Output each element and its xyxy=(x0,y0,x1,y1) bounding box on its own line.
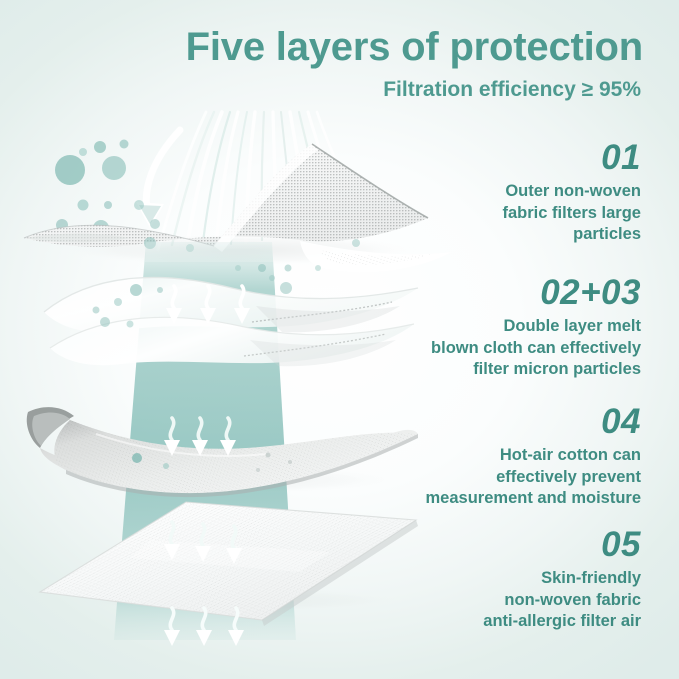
layer-description-05: Skin-friendly non-woven fabric anti-alle… xyxy=(311,568,641,633)
layer-number-02-03: 02+03 xyxy=(311,275,641,312)
layer-description-04: Hot-air cotton can effectively prevent m… xyxy=(311,445,641,510)
layer-description-02-03: Double layer melt blown cloth can effect… xyxy=(311,316,641,381)
layer-info-block-02-03: 02+03 Double layer melt blown cloth can … xyxy=(311,275,641,381)
layer-description-01: Outer non-woven fabric filters large par… xyxy=(311,181,641,246)
layer-info-block-01: 01 Outer non-woven fabric filters large … xyxy=(311,140,641,246)
layer-number-04: 04 xyxy=(311,404,641,441)
filtration-efficiency-subtitle: Filtration efficiency ≥ 95% xyxy=(0,78,641,102)
layer-number-05: 05 xyxy=(311,527,641,564)
layer-number-01: 01 xyxy=(311,140,641,177)
five-layers-infographic: Five layers of protection Filtration eff… xyxy=(0,0,679,679)
blocked-particle-arrow xyxy=(136,130,180,228)
layer-info-block-05: 05 Skin-friendly non-woven fabric anti-a… xyxy=(311,527,641,633)
page-title: Five layers of protection xyxy=(0,25,643,69)
layer-info-block-04: 04 Hot-air cotton can effectively preven… xyxy=(311,404,641,510)
